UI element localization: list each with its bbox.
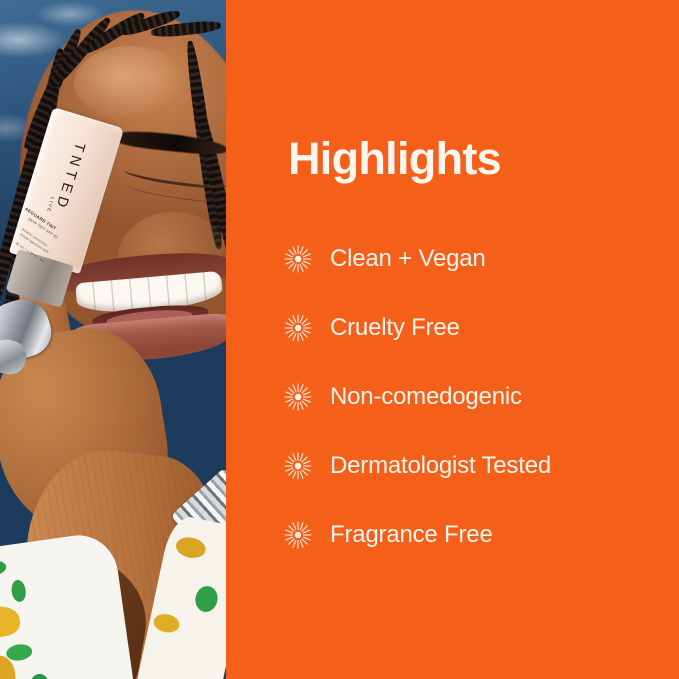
floral-motif — [174, 535, 208, 561]
list-item: Fragrance Free — [284, 500, 664, 569]
page-title: Highlights — [288, 136, 501, 181]
list-item: Non-comedogenic — [284, 362, 664, 431]
sunburst-icon — [284, 245, 312, 273]
sunburst-icon — [284, 521, 312, 549]
floral-motif — [152, 612, 181, 635]
list-item: Dermatologist Tested — [284, 431, 664, 500]
list-item: Clean + Vegan — [284, 224, 664, 293]
sunburst-icon — [284, 383, 312, 411]
sunburst-icon — [284, 452, 312, 480]
floral-motif — [193, 584, 220, 614]
list-item-label: Cruelty Free — [330, 314, 460, 342]
floral-motif — [0, 560, 7, 577]
floral-motif — [0, 604, 22, 639]
floral-motif — [29, 673, 50, 679]
floral-motif — [10, 579, 27, 603]
sunburst-icon — [284, 314, 312, 342]
forehead-highlight — [74, 46, 186, 120]
product-highlight-card: TNTED LIVE AEGUARD TINT SKIN TINT SPF 50… — [0, 0, 679, 679]
highlights-list: Clean + Vegan Cruelty Free Non-comedogen… — [284, 224, 664, 569]
product-lifestyle-photo: TNTED LIVE AEGUARD TINT SKIN TINT SPF 50… — [0, 0, 226, 679]
highlights-panel: Highlights — [226, 0, 679, 679]
list-item-label: Clean + Vegan — [330, 245, 486, 273]
list-item-label: Fragrance Free — [330, 521, 493, 549]
list-item: Cruelty Free — [284, 293, 664, 362]
list-item-label: Non-comedogenic — [330, 383, 522, 411]
list-item-label: Dermatologist Tested — [330, 452, 551, 480]
